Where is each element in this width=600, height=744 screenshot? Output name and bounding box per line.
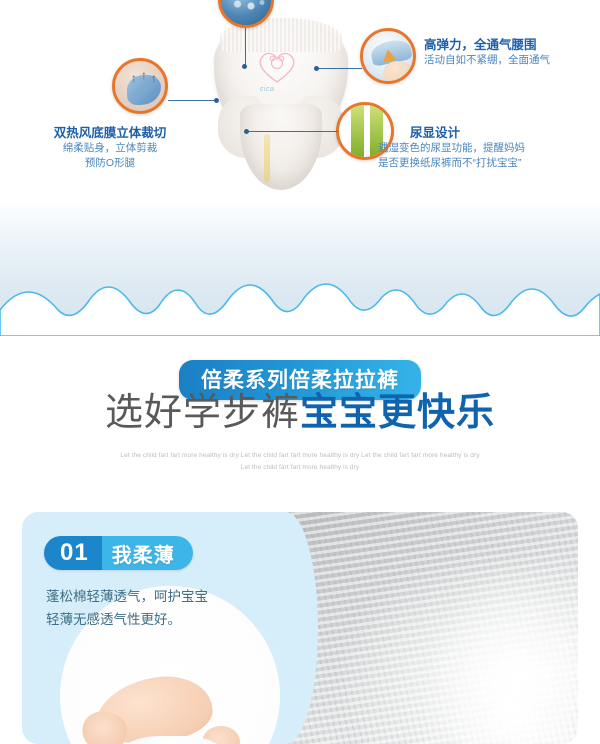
point-badge-label: 我柔薄 (102, 536, 193, 570)
cotton-texture-photo (282, 512, 578, 744)
product-brand-mark: cica (260, 86, 274, 93)
callout-title-cut: 双热风底膜立体裁切 (18, 122, 202, 141)
point-01-section: 01 我柔薄 蓬松棉轻薄透气，呵护宝宝 轻薄无感透气性更好。 (0, 496, 600, 744)
point-badge-number: 01 (44, 536, 102, 570)
point-01-description: 蓬松棉轻薄透气，呵护宝宝 轻薄无感透气性更好。 (46, 586, 326, 632)
callout-desc-cut-line1: 绵柔贴身，立体剪裁 (18, 141, 202, 156)
elastic-waistband-icon (360, 28, 416, 84)
heart-bear-print-icon (254, 48, 300, 84)
callout-text-waist: 高弹力，全通气腰围 活动自如不紧绷，全面通气 (424, 34, 550, 68)
leader-line-cut (168, 100, 216, 101)
callout-text-wet: 尿显设计 遇湿变色的尿显功能，提醒妈妈 是否更换纸尿裤而不“打扰宝宝” (410, 122, 525, 171)
page-title: 选好学步裤宝宝更快乐 (0, 394, 600, 434)
cut-arrow-icon-3: ↑ (151, 71, 157, 85)
headline-bold-part: 宝宝更快乐 (300, 392, 495, 434)
cotton-wisp (422, 564, 572, 744)
callout-text-cut: 双热风底膜立体裁切 绵柔贴身，立体剪裁 预防O形腿 (18, 122, 202, 171)
scallop-wave-divider (0, 200, 600, 336)
scallop-shape (0, 280, 600, 336)
callout-desc-waist: 活动自如不紧绷，全面通气 (424, 53, 550, 68)
point-01-badge: 01 我柔薄 (44, 536, 193, 570)
leader-line-absorb (245, 28, 246, 66)
cut-arrow-icon-2: ↑ (141, 68, 147, 82)
headline-subtitle-english: Let the child fart fart more healthy is … (0, 450, 600, 474)
leader-dot-cut (214, 98, 219, 103)
beads-dots (221, 0, 271, 25)
point-01-card: 01 我柔薄 蓬松棉轻薄透气，呵护宝宝 轻薄无感透气性更好。 (22, 512, 578, 744)
product-image-diaper-pant: cica (206, 12, 356, 184)
wetness-indicator-stripe (264, 134, 270, 182)
leader-line-waist (318, 68, 362, 69)
point-desc-line-2: 轻薄无感透气性更好。 (46, 609, 326, 632)
callout-desc-wet-line1: 遇湿变色的尿显功能，提醒妈妈 (378, 141, 525, 156)
headline-section: 倍柔系列倍柔拉拉裤 选好学步裤宝宝更快乐 Let the child fart … (0, 336, 600, 496)
subtitle-line-1: Let the child fart fart more healthy is … (0, 450, 600, 462)
callout-title-wet: 尿显设计 (410, 122, 525, 141)
leader-dot-waist (314, 66, 319, 71)
cut-arrow-icon-1: ↑ (131, 71, 137, 85)
subtitle-line-2: Let the child fart fart more healthy is … (0, 462, 600, 474)
callout-desc-wet-line2: 是否更换纸尿裤而不“打扰宝宝” (378, 156, 525, 171)
leader-dot-wet (244, 129, 249, 134)
3d-cut-bottom-film-icon: ↑ ↑ ↑ (112, 58, 168, 114)
callout-desc-cut-line2: 预防O形腿 (18, 156, 202, 171)
point-desc-line-1: 蓬松棉轻薄透气，呵护宝宝 (46, 586, 326, 609)
callout-title-waist: 高弹力，全通气腰围 (424, 34, 550, 53)
leader-dot-absorb (242, 64, 247, 69)
indicator-stripe-1 (351, 105, 364, 157)
headline-light-part: 选好学步裤 (105, 392, 300, 434)
product-feature-section: cica ↑ ↑ ↑ 高弹力，全通气腰围 活动自如不紧绷，全面通气 尿显设计 遇… (0, 0, 600, 200)
leader-line-wet (248, 131, 338, 132)
absorbent-beads-icon (218, 0, 274, 28)
pant-crotch (240, 104, 322, 190)
